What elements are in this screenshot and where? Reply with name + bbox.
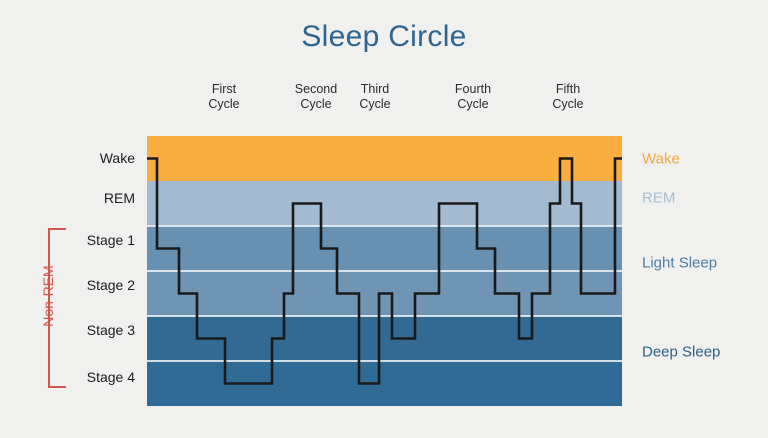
y-axis-label: REM — [104, 190, 135, 206]
non-rem-label: Non-REM — [40, 226, 56, 366]
legend-item: Light Sleep — [642, 255, 717, 272]
y-axis-label: Stage 3 — [87, 322, 135, 338]
legend-item: Wake — [642, 151, 680, 168]
legend-group: WakeREMLight SleepDeep Sleep — [628, 0, 768, 438]
y-axis-label: Stage 4 — [87, 369, 135, 385]
hypnogram-line — [147, 136, 622, 406]
hypnogram-chart — [147, 136, 622, 406]
y-axis-label: Stage 1 — [87, 232, 135, 248]
y-axis-label: Wake — [100, 150, 135, 166]
legend-item: Deep Sleep — [642, 344, 720, 361]
sleep-chart-infographic: Sleep Circle First CycleSecond CycleThir… — [0, 0, 768, 438]
y-axis-label: Stage 2 — [87, 277, 135, 293]
non-rem-bracket: Non-REM — [22, 228, 70, 388]
cycle-label: Fifth Cycle — [508, 82, 628, 112]
legend-item: REM — [642, 190, 675, 207]
non-rem-bracket-gap — [62, 274, 78, 342]
